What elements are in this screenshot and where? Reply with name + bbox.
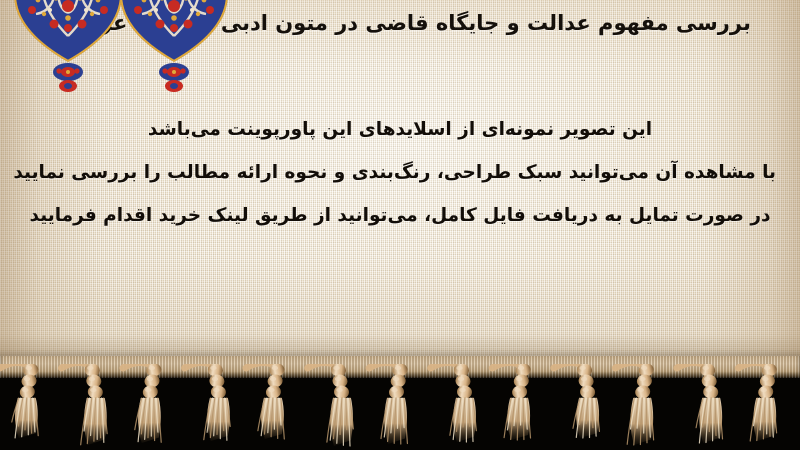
body-line-1: این تصویر نمونه‌ای از اسلایدهای این پاور…	[24, 108, 776, 151]
persian-medallion-ornament-left	[14, 0, 122, 94]
tassel	[492, 364, 531, 440]
tassel	[185, 364, 231, 441]
tassel	[246, 364, 285, 439]
persian-medallion-ornament-right	[120, 0, 228, 94]
tassel	[615, 364, 654, 445]
tassel	[308, 364, 354, 446]
body-line-3: در صورت تمایل به دریافت فایل کامل، می‌تو…	[24, 194, 776, 237]
tassel	[431, 364, 477, 442]
tassel	[554, 364, 600, 438]
tassel	[677, 364, 723, 443]
slide-body: این تصویر نمونه‌ای از اسلایدهای این پاور…	[0, 108, 800, 237]
presentation-slide: بررسی مفهوم عدالت و جایگاه قاضی در متون …	[0, 0, 800, 450]
tassel	[62, 364, 108, 445]
tassel	[123, 364, 162, 443]
tassel	[0, 364, 39, 438]
tassel	[369, 364, 408, 444]
tassel-row	[0, 364, 800, 450]
carpet-tassel-fringe	[0, 356, 800, 450]
body-line-2: با مشاهده آن می‌توانید سبک طراحی، رنگ‌بن…	[24, 151, 776, 194]
tassel	[738, 364, 777, 441]
